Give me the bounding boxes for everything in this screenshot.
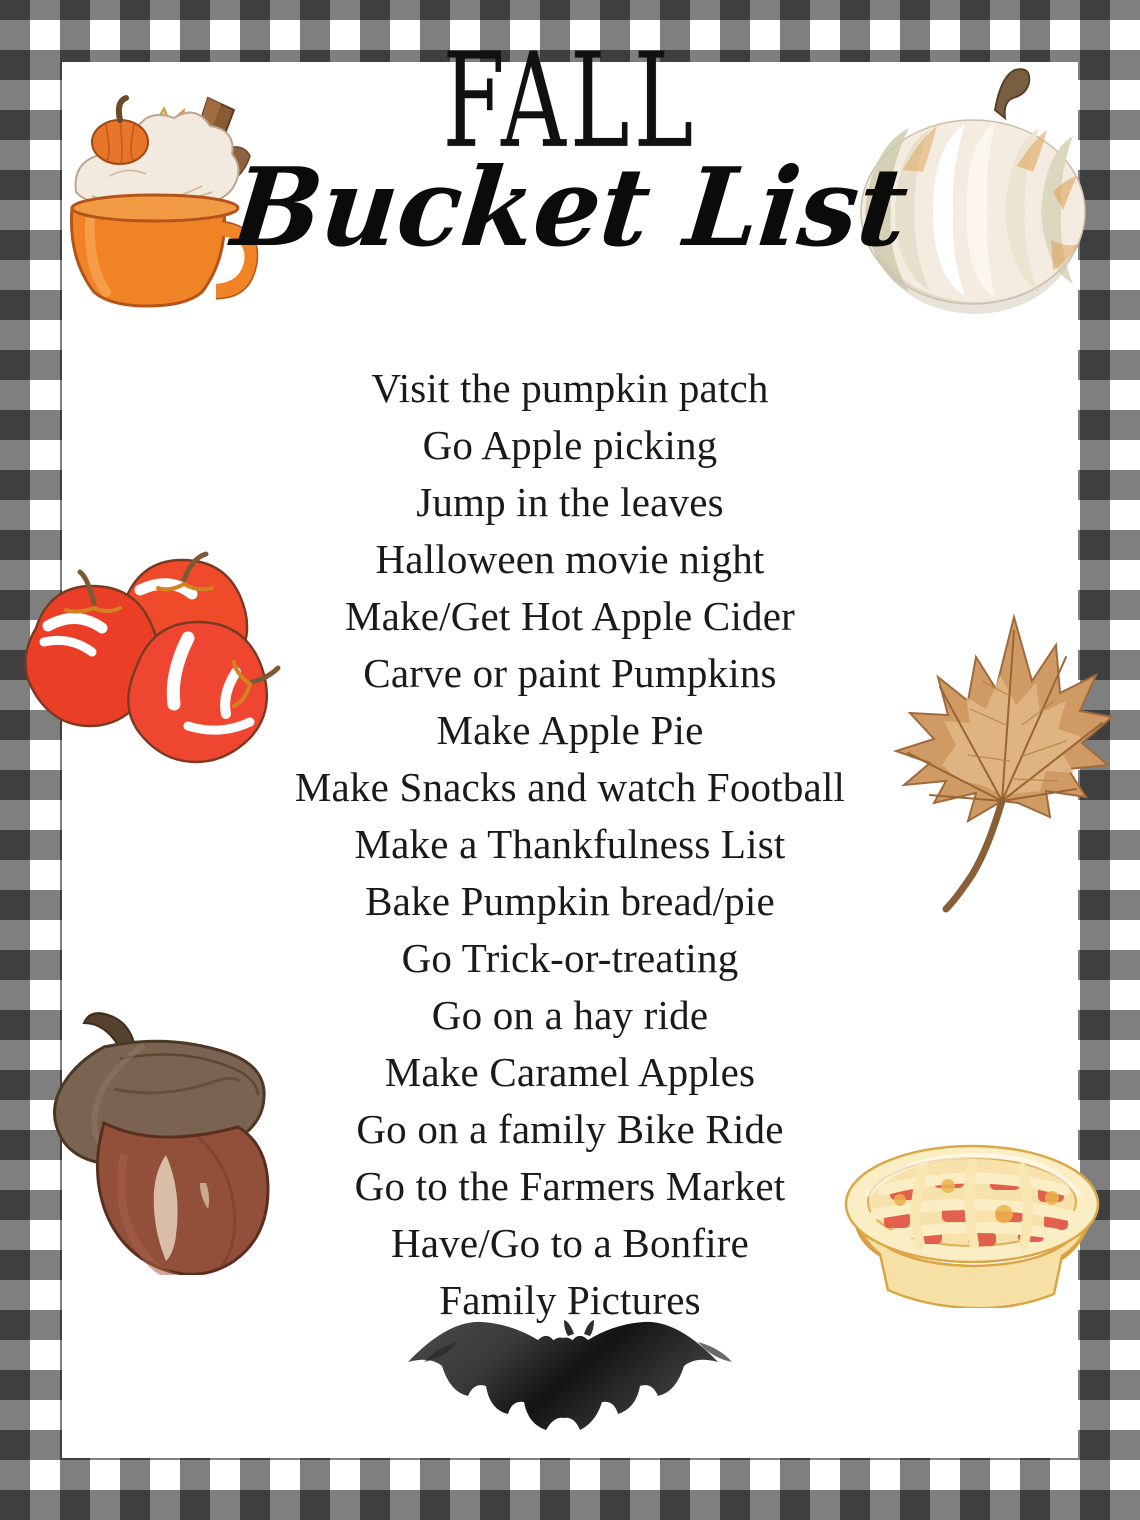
bat-silhouette-icon — [398, 1318, 758, 1458]
page-subtitle-script: Bucket List — [11, 148, 1130, 269]
list-item: Visit the pumpkin patch — [150, 360, 990, 417]
list-item: Go to the Farmers Market — [150, 1158, 990, 1215]
list-item: Bake Pumpkin bread/pie — [150, 873, 990, 930]
list-item: Go on a family Bike Ride — [150, 1101, 990, 1158]
list-item: Have/Go to a Bonfire — [150, 1215, 990, 1272]
bucket-list: Visit the pumpkin patch Go Apple picking… — [150, 360, 990, 1329]
list-item: Make Snacks and watch Football — [150, 759, 990, 816]
list-item: Carve or paint Pumpkins — [150, 645, 990, 702]
fall-bucket-list-poster: FALL Bucket List Visit the pumpkin patch… — [0, 0, 1140, 1520]
list-item: Halloween movie night — [150, 531, 990, 588]
list-item: Make Apple Pie — [150, 702, 990, 759]
list-item: Make Caramel Apples — [150, 1044, 990, 1101]
list-item: Make a Thankfulness List — [150, 816, 990, 873]
list-item: Go Apple picking — [150, 417, 990, 474]
list-item: Go on a hay ride — [150, 987, 990, 1044]
list-item: Make/Get Hot Apple Cider — [150, 588, 990, 645]
list-item: Jump in the leaves — [150, 474, 990, 531]
list-item: Go Trick-or-treating — [150, 930, 990, 987]
